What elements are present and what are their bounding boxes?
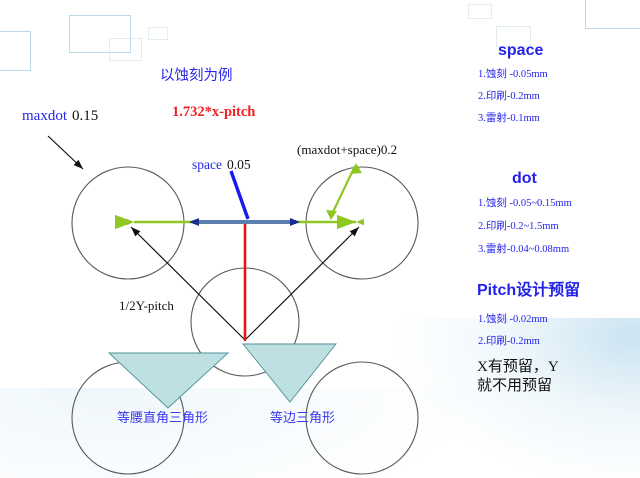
maxdot-label-pointer xyxy=(48,136,83,169)
triangle-equilateral xyxy=(243,344,336,402)
triangle-isosceles-right xyxy=(109,353,228,408)
space-label-pointer xyxy=(231,171,248,219)
label-half-y-pitch: 1/2Y-pitch xyxy=(119,299,174,314)
label-maxdot-name: maxdot xyxy=(22,108,67,124)
panel-title-dot: dot xyxy=(512,170,537,188)
panel-dot-item-3: 3.雷射-0.04~0.08mm xyxy=(478,244,569,256)
space-gap-arrowhead-right xyxy=(290,218,300,226)
panel-pitch-item-1: 1.蚀刻 -0.02mm xyxy=(478,314,548,326)
label-maxdot-plus-space: (maxdot+space)0.2 xyxy=(297,143,397,158)
label-triangle-isosceles: 等腰直角三角形 xyxy=(117,411,208,426)
label-space: space0.05 xyxy=(192,157,251,173)
x-pitch-arrowhead-left xyxy=(126,219,134,226)
label-space-name: space xyxy=(192,157,222,172)
panel-title-pitch: Pitch设计预留 xyxy=(477,282,580,300)
conclusion-line-2: 就不用预留 xyxy=(477,377,552,396)
panel-pitch-item-2: 2.印刷-0.2mm xyxy=(478,336,540,348)
label-example-note: 以蚀刻为例 xyxy=(160,68,233,85)
panel-space-item-1: 1.蚀刻 -0.05mm xyxy=(478,69,548,81)
construction-line-left xyxy=(131,227,245,340)
conclusion-line-1: X有预留，Y xyxy=(477,358,559,377)
label-space-value: 0.05 xyxy=(227,157,251,172)
construction-line-right xyxy=(245,227,359,340)
label-pitch-formula: 1.732*x-pitch xyxy=(172,104,255,121)
maxdot-space-arrowhead-down xyxy=(326,210,337,220)
label-maxdot-value: 0.15 xyxy=(72,108,98,124)
label-triangle-equilateral: 等边三角形 xyxy=(270,411,335,426)
panel-space-item-2: 2.印刷-0.2mm xyxy=(478,91,540,103)
panel-title-space: space xyxy=(498,42,543,60)
panel-space-item-3: 3.雷射-0.1mm xyxy=(478,113,540,125)
label-maxdot: maxdot0.15 xyxy=(22,108,98,125)
panel-dot-item-2: 2.印刷-0.2~1.5mm xyxy=(478,221,559,233)
x-pitch-arrowhead-right xyxy=(356,219,364,226)
space-gap-arrowhead-left xyxy=(189,218,199,226)
slide-canvas: 以蚀刻为例 maxdot0.15 1.732*x-pitch space0.05… xyxy=(0,0,640,478)
panel-dot-item-1: 1.蚀刻 -0.05~0.15mm xyxy=(478,198,572,210)
